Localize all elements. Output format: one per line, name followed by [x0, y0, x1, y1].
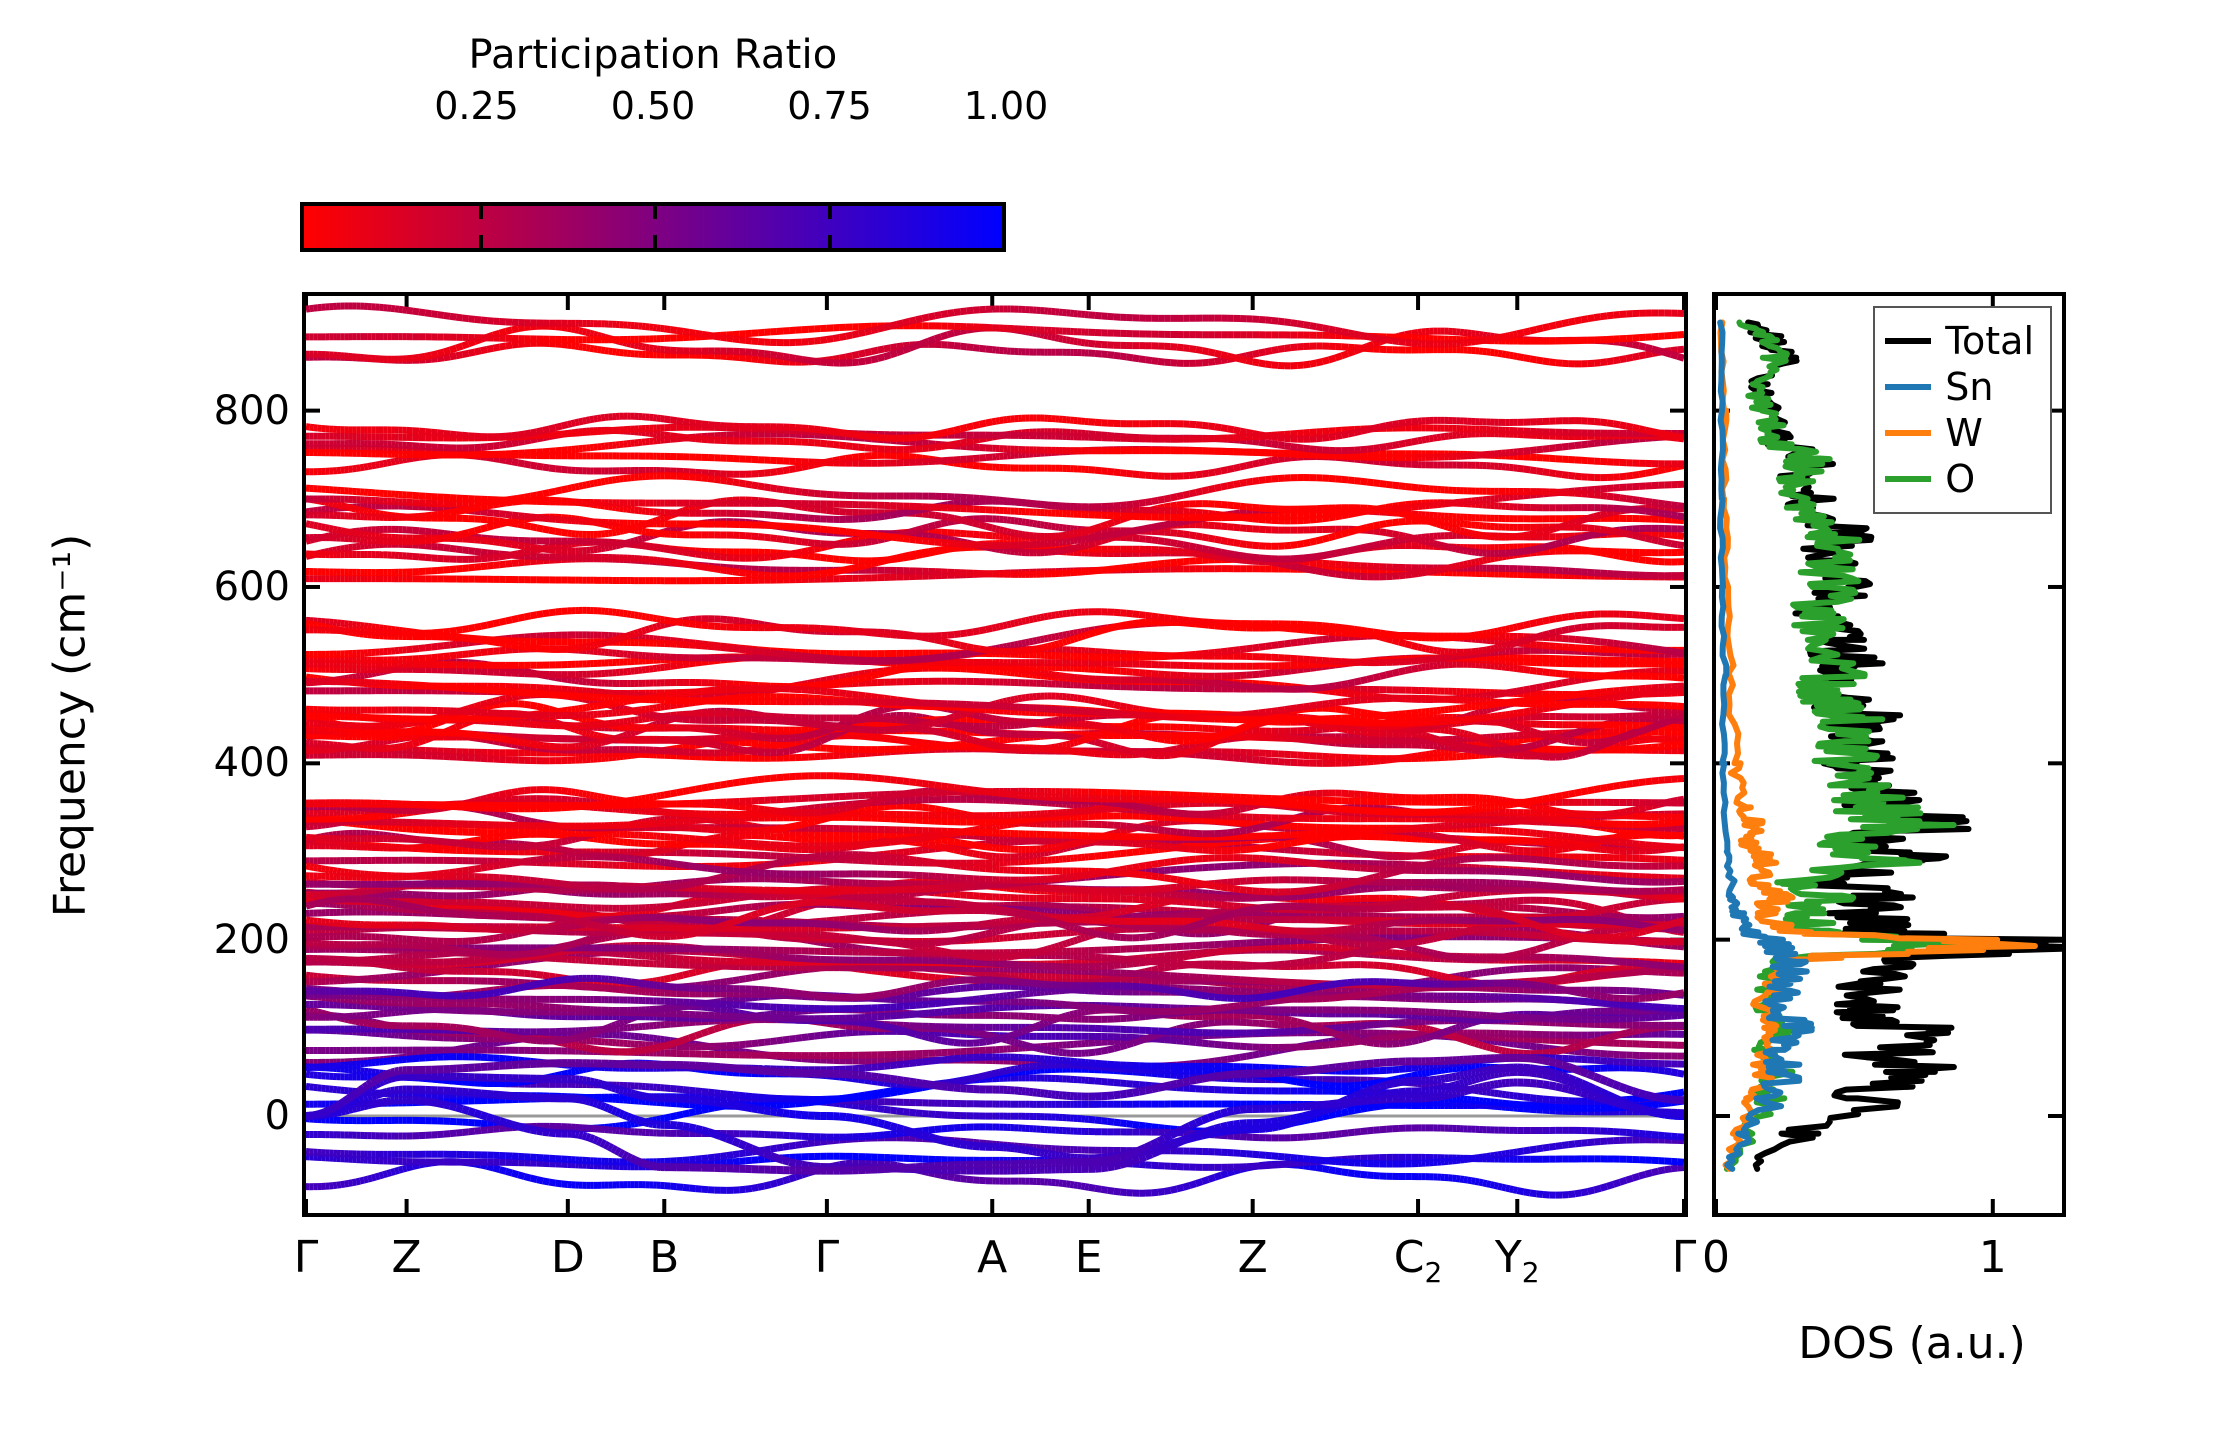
legend-line-swatch — [1885, 338, 1931, 344]
band-x-tick-label: Z — [392, 1232, 422, 1283]
colorbar — [300, 202, 1006, 252]
dos-legend-item[interactable]: Total — [1885, 318, 2034, 364]
band-x-tick-label: C2 — [1394, 1232, 1443, 1289]
legend-label: W — [1945, 414, 1983, 452]
colorbar-tick-mark — [828, 235, 832, 248]
band-y-tick-labels: 0200400600800 — [150, 292, 290, 1217]
band-y-tick-label: 400 — [214, 740, 290, 786]
colorbar-tick-mark — [653, 235, 657, 248]
band-x-tick-label: A — [977, 1232, 1007, 1283]
dos-legend-item[interactable]: O — [1885, 456, 2034, 502]
dos-legend-item[interactable]: Sn — [1885, 364, 2034, 410]
colorbar-tick-mark — [828, 206, 832, 219]
band-y-tick-label: 200 — [214, 917, 290, 963]
band-x-tick-label: D — [551, 1232, 585, 1283]
legend-label: Total — [1945, 322, 2034, 360]
dos-legend: TotalSnWO — [1873, 306, 2052, 514]
dos-x-tick-label: 0 — [1702, 1232, 1730, 1283]
band-x-tick-label: Y2 — [1495, 1232, 1540, 1289]
colorbar-tick-label: 0.75 — [787, 84, 872, 128]
band-x-tick-label: Z — [1238, 1232, 1268, 1283]
colorbar-title: Participation Ratio — [300, 32, 1006, 78]
band-x-tick-labels: ΓZDBΓAEZC2Y2Γ — [302, 1232, 1688, 1302]
colorbar-tick-labels: 0.250.500.751.00 — [300, 84, 1006, 130]
phonon-dos-plot: TotalSnWO — [1712, 292, 2066, 1217]
band-x-tick-label: Γ — [1672, 1232, 1697, 1283]
colorbar-tick-label: 0.50 — [611, 84, 696, 128]
colorbar-tick-label: 1.00 — [964, 84, 1049, 128]
dos-x-tick-labels: 01 — [1712, 1232, 2066, 1292]
band-y-tick-label: 0 — [265, 1093, 290, 1139]
colorbar-tick-mark — [479, 206, 483, 219]
dos-legend-item[interactable]: W — [1885, 410, 2034, 456]
colorbar-tick-label: 0.25 — [434, 84, 519, 128]
dos-x-axis-title: DOS (a.u.) — [1712, 1318, 2112, 1369]
band-y-axis-title: Frequency (cm⁻¹) — [45, 326, 96, 1126]
dos-x-tick-label: 1 — [1979, 1232, 2007, 1283]
band-x-tick-label: Γ — [815, 1232, 840, 1283]
band-y-tick-label: 800 — [214, 388, 290, 434]
band-x-tick-label: B — [649, 1232, 679, 1283]
band-y-tick-label: 600 — [214, 564, 290, 610]
colorbar-tick-mark — [653, 206, 657, 219]
phonon-band-structure-plot — [302, 292, 1688, 1217]
legend-line-swatch — [1885, 430, 1931, 436]
colorbar-tick-mark — [479, 235, 483, 248]
legend-label: Sn — [1945, 368, 1993, 406]
legend-label: O — [1945, 460, 1975, 498]
legend-line-swatch — [1885, 476, 1931, 482]
band-structure-canvas — [306, 296, 1684, 1213]
band-x-tick-label: E — [1075, 1232, 1103, 1283]
band-x-tick-label: Γ — [294, 1232, 319, 1283]
legend-line-swatch — [1885, 384, 1931, 390]
